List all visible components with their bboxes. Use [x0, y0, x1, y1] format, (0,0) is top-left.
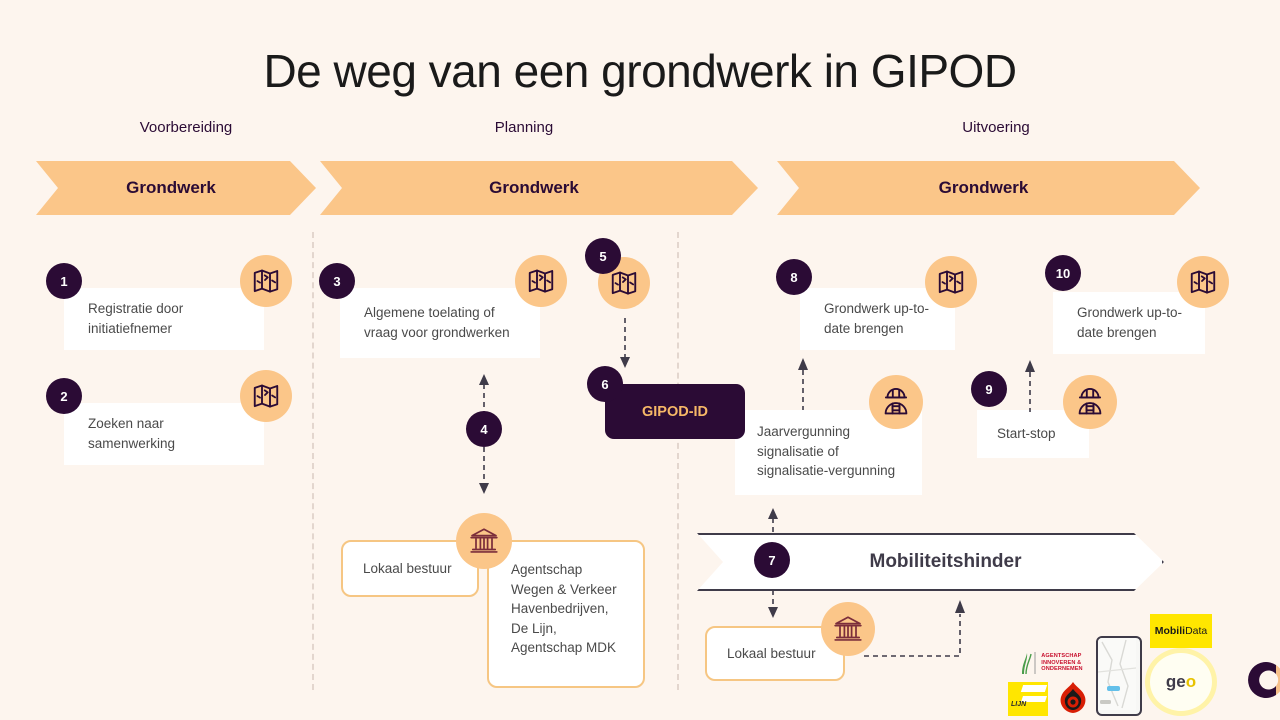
card-start-stop-text: Start-stop [997, 424, 1056, 444]
step-badge-3[interactable]: 3 [319, 263, 355, 299]
logo-phone-mockup [1096, 636, 1142, 716]
phase-banner-planning[interactable]: Grondwerk [320, 161, 758, 215]
logo-geo-ge: ge [1166, 672, 1186, 692]
worker-icon-circle-start-stop [1063, 375, 1117, 429]
gipod-id-box[interactable]: GIPOD-ID [605, 384, 745, 439]
worker-icon [880, 386, 912, 418]
column-divider-1 [312, 232, 314, 690]
card-lokaal-bestuur-uitvoering-text: Lokaal bestuur [727, 644, 816, 664]
card-registratie[interactable]: Registratie door initiatiefnemer [64, 288, 264, 350]
page-title: De weg van een grondwerk in GIPOD [0, 46, 1280, 97]
map-icon [251, 381, 281, 411]
logo-group-mobilidata-geo: MobiliData geo [1145, 614, 1217, 716]
step-badge-10[interactable]: 10 [1045, 255, 1081, 291]
fire-icon [1053, 680, 1093, 716]
logo-geo: geo [1145, 648, 1217, 716]
phase-banner-uitvoering[interactable]: Grondwerk [777, 161, 1200, 215]
map-screenshot-icon [1098, 638, 1136, 710]
government-building-icon [468, 525, 500, 557]
map-icon [526, 266, 556, 296]
government-icon-circle-uitvoering [821, 602, 875, 656]
arrow-startstop-to-step10 [1018, 360, 1042, 412]
arrow-lokaalbestuur-elbow [864, 600, 974, 662]
lion-icon [1018, 650, 1038, 676]
government-icon-circle-planning [456, 513, 512, 569]
logo-geo-o: o [1186, 672, 1196, 692]
map-icon-circle-3 [515, 255, 567, 307]
phase-label-uitvoering: Uitvoering [906, 119, 1086, 136]
step-badge-6[interactable]: 6 [587, 366, 623, 402]
card-jaarvergunning-text: Jaarvergunning signalisatie of signalisa… [757, 422, 895, 481]
step-badge-5[interactable]: 5 [585, 238, 621, 274]
step-badge-2[interactable]: 2 [46, 378, 82, 414]
logo-c-mark [1236, 652, 1280, 708]
step-badge-4[interactable]: 4 [466, 411, 502, 447]
column-divider-2 [677, 232, 679, 690]
phase-banner-label: Grondwerk [320, 178, 758, 198]
infographic-canvas: De weg van een grondwerk in GIPOD Voorbe… [0, 0, 1280, 720]
logo-mobilidata-rest: Data [1185, 625, 1207, 637]
arrow-step5-to-step6 [613, 318, 637, 370]
logo-group-left: AGENTSCHAP INNOVEREN & ONDERNEMEN LIJN [1008, 650, 1093, 716]
step-badge-8[interactable]: 8 [776, 259, 812, 295]
phase-banner-label: Grondwerk [777, 178, 1200, 198]
logo-cluster: AGENTSCHAP INNOVEREN & ONDERNEMEN LIJN [1008, 614, 1280, 716]
phase-banner-voorbereiding[interactable]: Grondwerk [36, 161, 316, 215]
phase-label-planning: Planning [434, 119, 614, 136]
step-badge-1[interactable]: 1 [46, 263, 82, 299]
map-icon-circle-2 [240, 370, 292, 422]
logo-mobilidata: MobiliData [1150, 614, 1212, 648]
map-icon [609, 268, 639, 298]
phase-banner-label: Grondwerk [36, 178, 316, 198]
card-toelating[interactable]: Algemene toelating of vraag voor grondwe… [340, 288, 540, 358]
map-icon [251, 266, 281, 296]
logo-mobilidata-bold: Mobili [1155, 625, 1185, 637]
card-agentschap[interactable]: Agentschap Wegen & Verkeer Havenbedrijve… [487, 540, 645, 688]
card-grondwerk-8-text: Grondwerk up-to- date brengen [824, 299, 929, 338]
card-grondwerk-10[interactable]: Grondwerk up-to- date brengen [1053, 292, 1205, 354]
logo-aio-text: AGENTSCHAP INNOVEREN & ONDERNEMEN [1041, 653, 1082, 673]
card-lokaal-bestuur-planning-text: Lokaal bestuur [363, 559, 452, 579]
worker-icon [1074, 386, 1106, 418]
card-zoeken-text: Zoeken naar samenwerking [88, 414, 175, 453]
map-icon [936, 267, 966, 297]
card-registratie-text: Registratie door initiatiefnemer [88, 299, 183, 338]
logo-de-lijn-label: LIJN [1011, 701, 1026, 708]
card-zoeken[interactable]: Zoeken naar samenwerking [64, 403, 264, 465]
c-mark-icon [1236, 652, 1280, 708]
map-icon [1188, 267, 1218, 297]
gipod-id-label: GIPOD-ID [642, 404, 708, 420]
map-icon-circle-1 [240, 255, 292, 307]
worker-icon-circle-jaarvergunning [869, 375, 923, 429]
step-badge-7[interactable]: 7 [754, 542, 790, 578]
step-badge-9[interactable]: 9 [971, 371, 1007, 407]
government-building-icon [832, 613, 864, 645]
card-agentschap-text: Agentschap Wegen & Verkeer Havenbedrijve… [511, 560, 617, 658]
arrow-jaarvergunning-to-step8 [791, 358, 815, 410]
phase-label-voorbereiding: Voorbereiding [96, 119, 276, 136]
logo-de-lijn: LIJN [1008, 682, 1048, 716]
map-icon-circle-8 [925, 256, 977, 308]
logo-brandweer [1053, 680, 1093, 716]
logo-agentschap-innoveren-ondernemen: AGENTSCHAP INNOVEREN & ONDERNEMEN [1008, 650, 1093, 676]
card-grondwerk-10-text: Grondwerk up-to- date brengen [1077, 303, 1182, 342]
logo-group-lijn-brandweer: LIJN [1008, 680, 1093, 716]
mobiliteitshinder-label: Mobiliteitshinder [840, 551, 1022, 573]
card-toelating-text: Algemene toelating of vraag voor grondwe… [364, 303, 510, 342]
map-icon-circle-10 [1177, 256, 1229, 308]
